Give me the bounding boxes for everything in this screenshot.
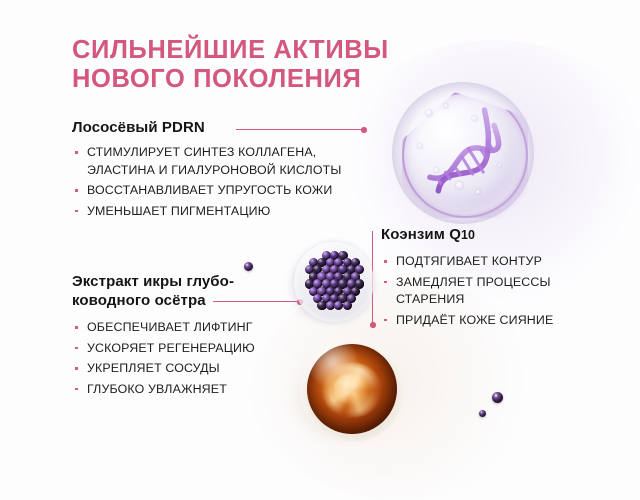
list-item: замедляет процессы старения — [381, 274, 591, 309]
list-item: ускоряет регенерацию — [72, 340, 312, 358]
caviar-pearl — [334, 287, 343, 296]
list-item: придаёт коже сияние — [381, 312, 591, 330]
block-q10-title: Коэнзим Q10 — [381, 225, 475, 245]
caviar-pearl — [322, 251, 331, 260]
caviar-pearl — [313, 279, 322, 288]
caviar-pearl — [343, 258, 352, 267]
caviar-pearl — [322, 294, 331, 303]
block-caviar-title: Экстракт икры глубо- ководного осётра — [72, 272, 234, 310]
block-caviar-bullets: обеспечивает лифтинг ускоряет регенераци… — [72, 319, 312, 398]
caviar-pearl — [351, 272, 360, 281]
caviar-pearl — [351, 258, 360, 267]
caviar-pearl — [313, 294, 322, 303]
loose-pearl — [492, 392, 503, 403]
connector-line-pdrn — [236, 129, 364, 130]
petri-dish-dna-image — [388, 78, 538, 228]
block-caviar: Экстракт икры глубо- ководного осётра об… — [72, 272, 312, 401]
caviar-pearl — [330, 294, 339, 303]
caviar-pearl — [326, 258, 335, 267]
caviar-pearl — [317, 258, 326, 267]
caviar-pearl — [326, 272, 335, 281]
caviar-pearl — [338, 294, 347, 303]
caviar-pearl — [330, 251, 339, 260]
caviar-pearl — [347, 279, 356, 288]
block-q10-title-main: Коэнзим Q — [381, 226, 461, 243]
loose-pearl — [244, 262, 253, 271]
list-item: стимулирует синтез коллагена, эластина и… — [72, 144, 352, 179]
list-item: глубоко увлажняет — [72, 381, 312, 399]
loose-pearl — [479, 410, 486, 417]
block-pdrn-title: Лососёвый PDRN — [72, 118, 205, 137]
caviar-pearl — [334, 272, 343, 281]
dna-helix-icon — [404, 94, 522, 212]
caviar-pearl — [317, 272, 326, 281]
list-item: обеспечивает лифтинг — [72, 319, 312, 337]
caviar-pearl — [338, 279, 347, 288]
caviar-pearl — [326, 301, 335, 310]
caviar-pearl — [317, 287, 326, 296]
caviar-pearl — [322, 265, 331, 274]
caviar-pearl — [309, 258, 318, 267]
caviar-pearl — [343, 272, 352, 281]
block-pdrn: Лососёвый PDRN стимулирует синтез коллаг… — [72, 118, 352, 223]
amber-serum-bowl-image — [300, 338, 404, 442]
list-item: подтягивает контур — [381, 253, 591, 271]
caviar-pearl — [347, 294, 356, 303]
caviar-pearl — [338, 265, 347, 274]
caviar-pearl — [334, 301, 343, 310]
caviar-pearl — [326, 287, 335, 296]
caviar-pearl — [347, 265, 356, 274]
block-pdrn-bullets: стимулирует синтез коллагена, эластина и… — [72, 144, 352, 220]
caviar-pearl — [338, 251, 347, 260]
list-item: восстанавливает упругость кожи — [72, 182, 352, 200]
caviar-pearl — [343, 287, 352, 296]
caviar-pearl — [334, 258, 343, 267]
caviar-pearl — [355, 279, 364, 288]
block-q10-title-subscript: 10 — [461, 228, 475, 242]
caviar-pearl — [317, 301, 326, 310]
list-item: уменьшает пигментацию — [72, 203, 352, 221]
caviar-pearl — [355, 265, 364, 274]
block-q10-bullets: подтягивает контур замедляет процессы ст… — [381, 253, 591, 329]
page-title: СИЛЬНЕЙШИЕ АКТИВЫ НОВОГО ПОКОЛЕНИЯ — [72, 36, 492, 94]
caviar-pearl — [313, 265, 322, 274]
connector-line-q10 — [372, 231, 373, 325]
caviar-pearl — [343, 301, 352, 310]
caviar-pearl — [330, 265, 339, 274]
infographic-canvas: СИЛЬНЕЙШИЕ АКТИВЫ НОВОГО ПОКОЛЕНИЯ Лосос… — [0, 0, 640, 444]
connector-line-caviar — [213, 301, 300, 302]
caviar-pearl — [330, 279, 339, 288]
caviar-pearl — [351, 287, 360, 296]
block-q10: Коэнзим Q10 подтягивает контур замедляет… — [381, 225, 591, 332]
caviar-pearl — [322, 279, 331, 288]
list-item: укрепляет сосуды — [72, 360, 312, 378]
